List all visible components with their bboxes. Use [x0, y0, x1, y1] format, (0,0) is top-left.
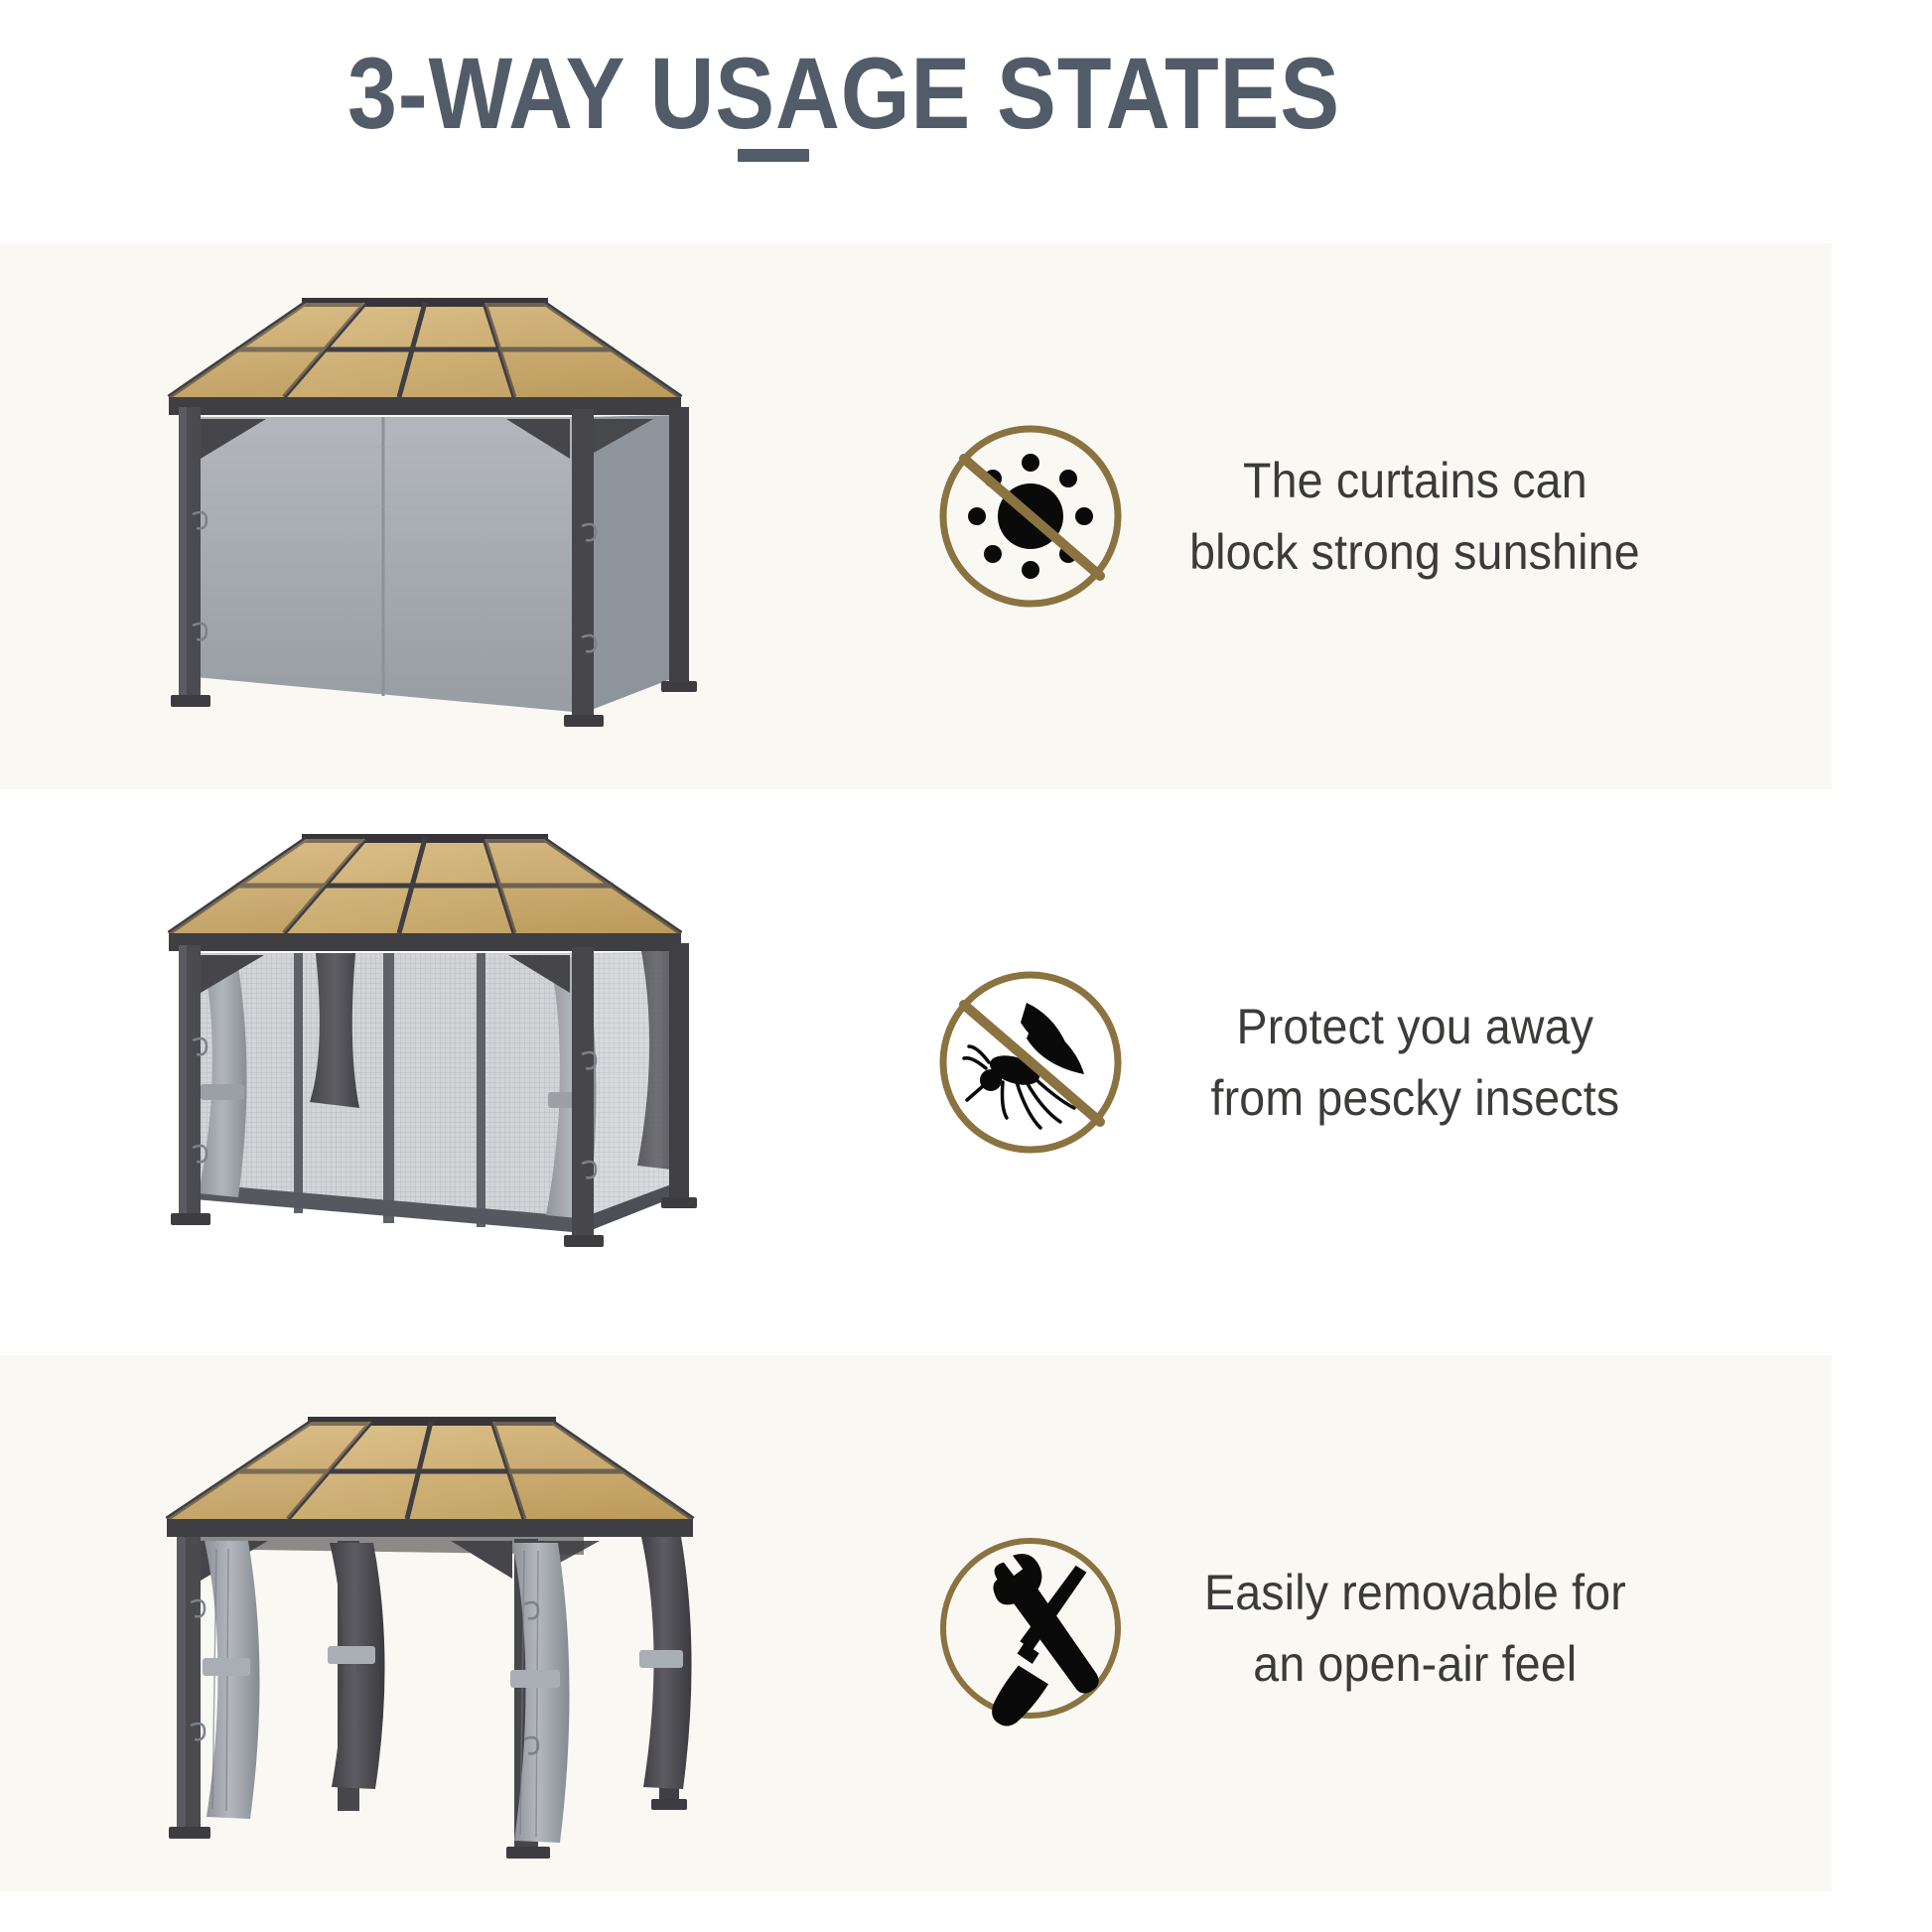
gazebo-open-air-photo: [117, 1360, 733, 1896]
caption-line-2: block strong sunshine: [1189, 516, 1640, 589]
page-title: 3-WAY USAGE STATES: [101, 38, 1587, 149]
caption-line-1: The curtains can: [1243, 445, 1587, 517]
feature-row-netting: Protect you away from pescky insects: [0, 794, 1932, 1330]
feature-row-open-air: Easily removable for an open-air feel: [0, 1360, 1932, 1896]
infographic-page: 3-WAY USAGE STATES: [0, 0, 1932, 1932]
gazebo-curtains-closed-photo: [117, 248, 733, 784]
caption-curtains: The curtains can block strong sunshine: [1176, 248, 1653, 784]
caption-line-2: from pescky insects: [1210, 1062, 1619, 1135]
no-sun-icon: [911, 248, 1150, 784]
tools-icon: [911, 1360, 1150, 1896]
no-mosquito-icon: [911, 794, 1150, 1330]
caption-netting: Protect you away from pescky insects: [1176, 794, 1653, 1330]
caption-line-1: Protect you away: [1236, 991, 1593, 1063]
gazebo-mosquito-netting-photo: [117, 794, 733, 1330]
caption-open-air: Easily removable for an open-air feel: [1176, 1360, 1653, 1896]
title-divider: [738, 149, 809, 162]
caption-line-1: Easily removable for: [1204, 1557, 1626, 1629]
caption-line-2: an open-air feel: [1253, 1628, 1577, 1701]
header: 3-WAY USAGE STATES: [0, 0, 1932, 243]
feature-row-curtains: The curtains can block strong sunshine: [0, 248, 1932, 784]
